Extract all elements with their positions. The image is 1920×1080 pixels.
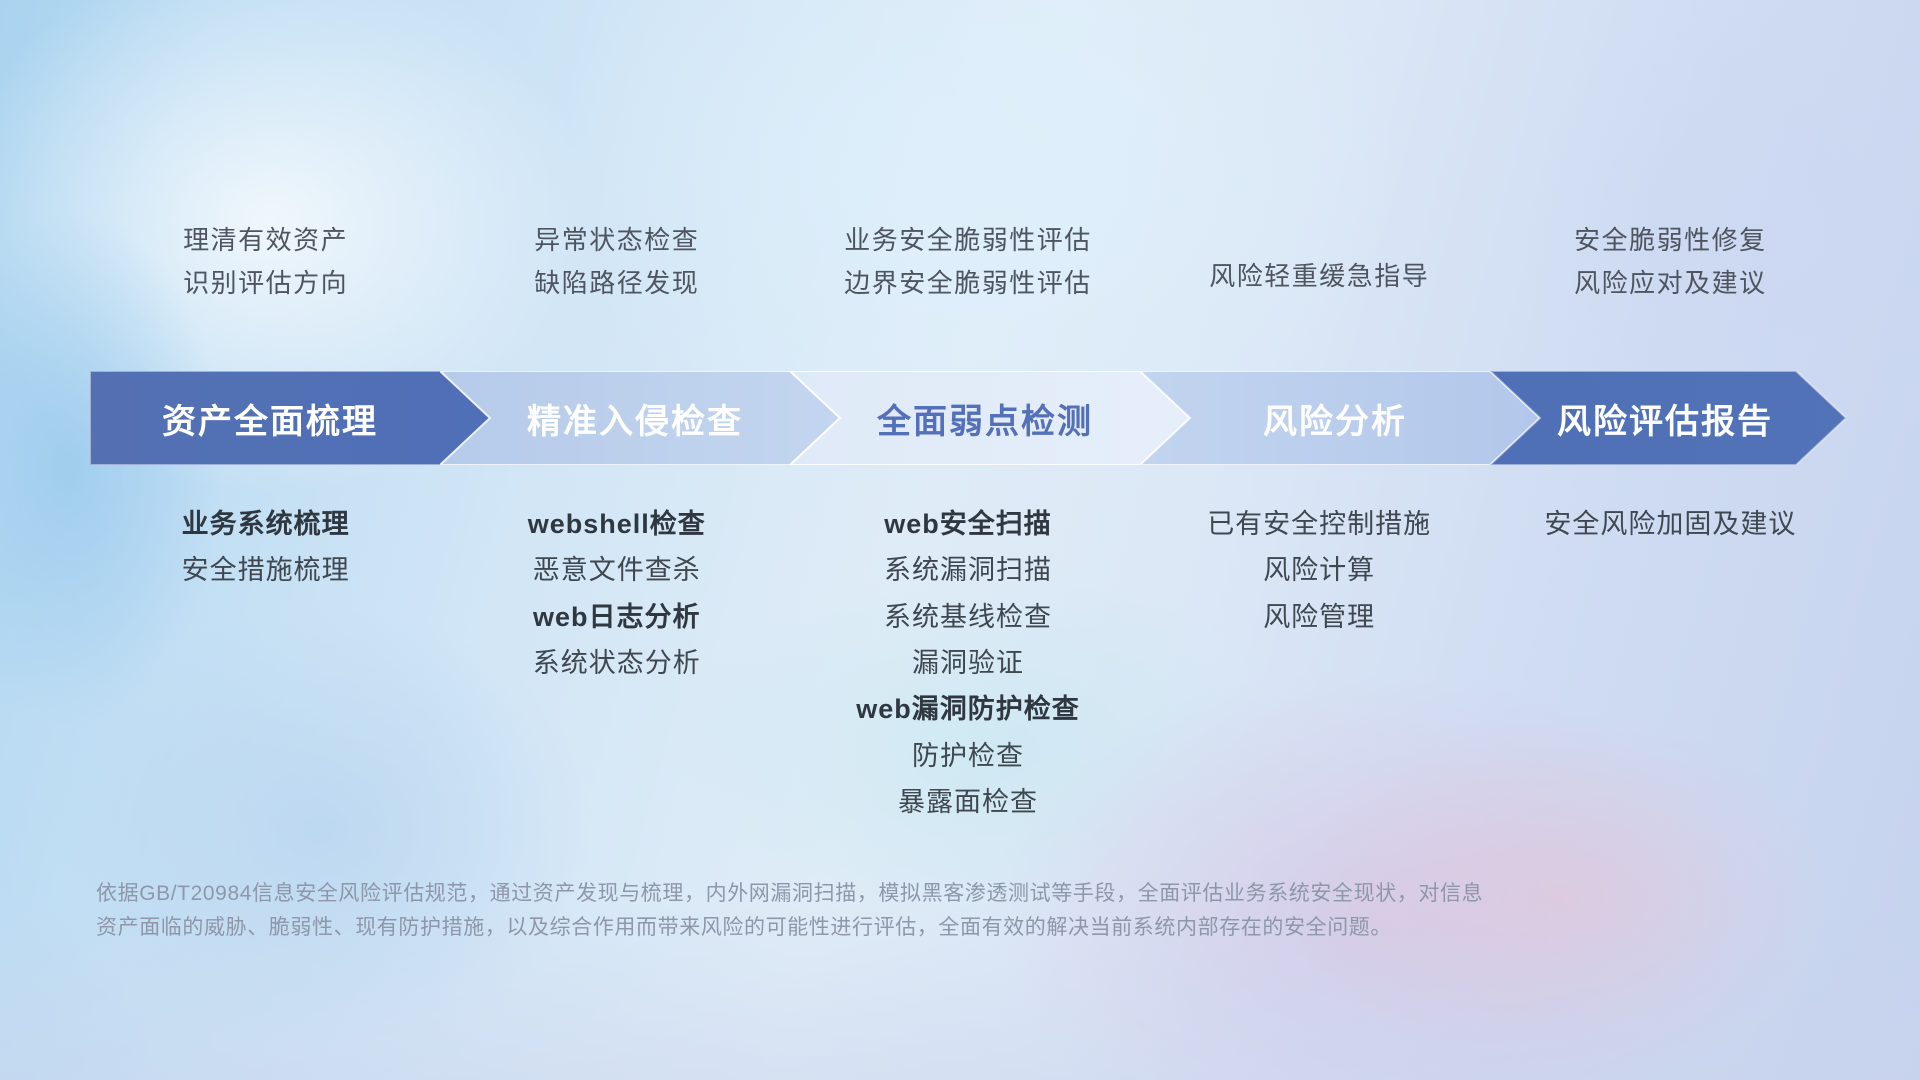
list-item: 恶意文件查杀	[533, 556, 701, 584]
chevron-stage-2[interactable]: 精准入侵检查	[440, 371, 840, 465]
item-list-5: 安全风险加固及建议	[1495, 510, 1846, 538]
footer-description: 依据GB/T20984信息安全风险评估规范，通过资产发现与梳理，内外网漏洞扫描，…	[96, 877, 1626, 945]
chevron-stage-4[interactable]: 风险分析	[1140, 371, 1540, 465]
list-item: 安全风险加固及建议	[1544, 510, 1796, 538]
item-list-1: 业务系统梳理 安全措施梳理	[90, 510, 441, 585]
top-note: 边界安全脆弱性评估	[844, 269, 1092, 298]
list-item: 系统状态分析	[533, 649, 701, 677]
list-item: webshell检查	[528, 510, 706, 538]
top-notes-2: 异常状态检查 缺陷路径发现	[441, 226, 792, 297]
top-note: 业务安全脆弱性评估	[844, 226, 1092, 255]
item-list-3: web安全扫描 系统漏洞扫描 系统基线检查 漏洞验证 web漏洞防护检查 防护检…	[792, 510, 1143, 816]
top-note: 缺陷路径发现	[534, 269, 699, 298]
slide-canvas: 理清有效资产 识别评估方向 业务系统梳理 安全措施梳理 异常状态检查 缺陷路径发…	[0, 0, 1920, 1080]
top-note: 安全脆弱性修复	[1574, 226, 1767, 255]
list-item: 安全措施梳理	[182, 556, 350, 584]
list-item: 风险计算	[1263, 556, 1375, 584]
top-notes-5: 安全脆弱性修复 风险应对及建议	[1495, 226, 1846, 297]
chevron-stage-5[interactable]: 风险评估报告	[1490, 371, 1846, 465]
chevron-stage-1[interactable]: 资产全面梳理	[90, 371, 490, 465]
list-item: 漏洞验证	[912, 649, 1024, 677]
item-list-2: webshell检查 恶意文件查杀 web日志分析 系统状态分析	[441, 510, 792, 677]
list-item: web安全扫描	[884, 510, 1052, 538]
top-notes-3: 业务安全脆弱性评估 边界安全脆弱性评估	[792, 226, 1143, 297]
process-chevron-band: 资产全面梳理 精准入侵检查	[90, 371, 1846, 465]
list-item: 防护检查	[912, 742, 1024, 770]
list-item: 业务系统梳理	[182, 510, 350, 538]
list-item: 暴露面检查	[898, 788, 1038, 816]
top-note: 异常状态检查	[534, 226, 699, 255]
top-notes-4: 风险轻重缓急指导	[1144, 262, 1495, 291]
top-note: 风险应对及建议	[1574, 269, 1767, 298]
top-note: 理清有效资产	[183, 226, 348, 255]
chevron-label: 精准入侵检查	[527, 394, 743, 443]
list-item: web漏洞防护检查	[856, 695, 1080, 723]
list-item: web日志分析	[533, 603, 701, 631]
chevron-label: 资产全面梳理	[162, 394, 378, 443]
chevron-label: 风险评估报告	[1557, 394, 1773, 443]
list-item: 系统基线检查	[884, 603, 1052, 631]
footer-line-2: 资产面临的威胁、脆弱性、现有防护措施，以及综合作用而带来风险的可能性进行评估，全…	[96, 911, 1626, 945]
list-item: 风险管理	[1263, 603, 1375, 631]
list-item: 系统漏洞扫描	[884, 556, 1052, 584]
chevron-label: 全面弱点检测	[877, 394, 1093, 443]
top-note: 风险轻重缓急指导	[1209, 262, 1429, 291]
top-notes-1: 理清有效资产 识别评估方向	[90, 226, 441, 297]
chevron-label: 风险分析	[1263, 394, 1407, 443]
top-note: 识别评估方向	[183, 269, 348, 298]
list-item: 已有安全控制措施	[1207, 510, 1431, 538]
footer-line-1: 依据GB/T20984信息安全风险评估规范，通过资产发现与梳理，内外网漏洞扫描，…	[96, 877, 1626, 911]
item-list-4: 已有安全控制措施 风险计算 风险管理	[1144, 510, 1495, 631]
chevron-stage-3[interactable]: 全面弱点检测	[790, 371, 1190, 465]
